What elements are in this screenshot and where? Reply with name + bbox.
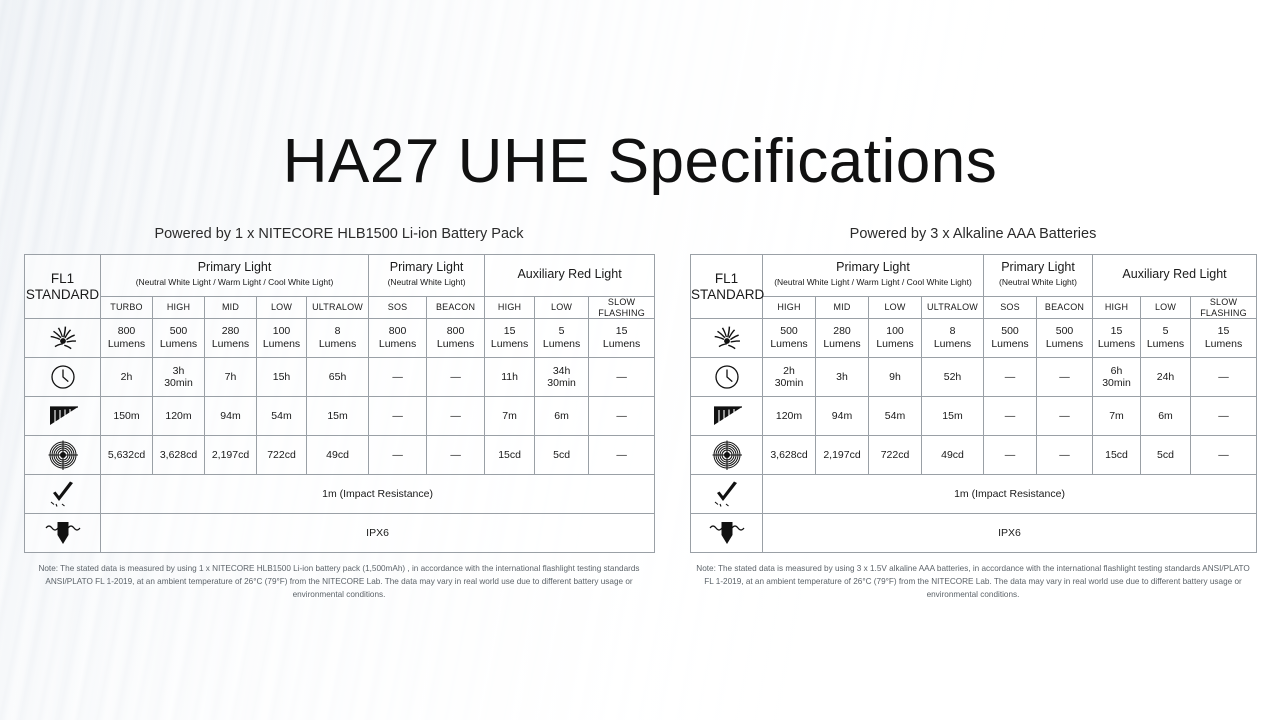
- cell-value: 2h: [101, 358, 153, 397]
- cell-value: 15Lumens: [485, 319, 535, 358]
- group-title: Auxiliary Red Light: [515, 262, 623, 282]
- cell-value: 6h30min: [1093, 358, 1141, 397]
- row-water-resistance: IPX6: [25, 514, 655, 553]
- group-auxiliary-red-light: Auxiliary Red Light: [1093, 255, 1257, 297]
- cell-value: 49cd: [922, 436, 984, 475]
- panel-caption: Powered by 3 x Alkaline AAA Batteries: [690, 226, 1256, 242]
- cell-value: —: [427, 358, 485, 397]
- mode-high: HIGH: [763, 296, 816, 319]
- mode-beacon: BEACON: [1037, 296, 1093, 319]
- specifications-page: HA27 UHE Specifications Powered by 1 x N…: [0, 0, 1280, 720]
- row-runtime: 2h 3h30min 7h 15h 65h — — 11h 34h30min —: [25, 358, 655, 397]
- panel-caption: Powered by 1 x NITECORE HLB1500 Li-ion B…: [24, 226, 654, 242]
- cell-value: 11h: [485, 358, 535, 397]
- cell-value: 15cd: [1093, 436, 1141, 475]
- group-primary-light-multi: Primary Light (Neutral White Light / War…: [101, 255, 369, 297]
- cell-value: 9h: [869, 358, 922, 397]
- spec-panel-alkaline: Powered by 3 x Alkaline AAA Batteries FL…: [690, 226, 1256, 602]
- cell-value: 5Lumens: [535, 319, 589, 358]
- cell-value: 2,197cd: [816, 436, 869, 475]
- mode-mid: MID: [205, 296, 257, 319]
- row-impact-resistance: 1m (Impact Resistance): [691, 475, 1257, 514]
- fl1-line-1: FL1: [51, 271, 74, 286]
- fl1-standard-corner: FL1 STANDARD: [691, 255, 763, 319]
- beam-distance-icon: [691, 397, 763, 436]
- fl1-line-1: FL1: [715, 271, 738, 286]
- cell-value: 800Lumens: [427, 319, 485, 358]
- group-primary-light-multi: Primary Light (Neutral White Light / War…: [763, 255, 984, 297]
- cell-value: 8Lumens: [922, 319, 984, 358]
- cell-value: —: [1037, 397, 1093, 436]
- sunburst-icon: [691, 319, 763, 358]
- cell-value: 100Lumens: [869, 319, 922, 358]
- cell-value: 15Lumens: [1191, 319, 1257, 358]
- cell-value: 15m: [307, 397, 369, 436]
- impact-resistance-icon: [25, 475, 101, 514]
- cell-value: 54m: [257, 397, 307, 436]
- cell-value: 94m: [205, 397, 257, 436]
- spec-panel-li-ion: Powered by 1 x NITECORE HLB1500 Li-ion B…: [24, 226, 654, 602]
- cell-value: 722cd: [869, 436, 922, 475]
- cell-value: 1m (Impact Resistance): [763, 475, 1257, 514]
- cell-value: 500Lumens: [1037, 319, 1093, 358]
- cell-value: 8Lumens: [307, 319, 369, 358]
- cell-value: —: [984, 358, 1037, 397]
- cell-value: 65h: [307, 358, 369, 397]
- cell-value: 800Lumens: [369, 319, 427, 358]
- cell-value: 7m: [1093, 397, 1141, 436]
- fl1-line-2: STANDARD: [691, 287, 764, 302]
- mode-red-slow-flashing: SLOWFLASHING: [1191, 296, 1257, 319]
- mode-sos: SOS: [984, 296, 1037, 319]
- row-beam-distance: 120m 94m 54m 15m — — 7m 6m —: [691, 397, 1257, 436]
- group-subtitle: (Neutral White Light / Warm Light / Cool…: [103, 277, 366, 291]
- cell-value: 15cd: [485, 436, 535, 475]
- row-runtime: 2h30min 3h 9h 52h — — 6h30min 24h —: [691, 358, 1257, 397]
- mode-turbo: TURBO: [101, 296, 153, 319]
- cell-value: 150m: [101, 397, 153, 436]
- cell-value: —: [984, 436, 1037, 475]
- group-primary-light-neutral: Primary Light (Neutral White Light): [984, 255, 1093, 297]
- cell-value: —: [589, 358, 655, 397]
- cell-value: 7h: [205, 358, 257, 397]
- mode-red-low: LOW: [1141, 296, 1191, 319]
- cell-value: 15Lumens: [589, 319, 655, 358]
- cell-value: 120m: [153, 397, 205, 436]
- mode-header-row: TURBO HIGH MID LOW ULTRALOW SOS BEACON H…: [25, 296, 655, 319]
- mode-ultralow: ULTRALOW: [307, 296, 369, 319]
- mode-high: HIGH: [153, 296, 205, 319]
- row-water-resistance: IPX6: [691, 514, 1257, 553]
- cell-value: 5,632cd: [101, 436, 153, 475]
- row-peak-beam-intensity: 5,632cd 3,628cd 2,197cd 722cd 49cd — — 1…: [25, 436, 655, 475]
- cell-value: 7m: [485, 397, 535, 436]
- mode-red-low: LOW: [535, 296, 589, 319]
- water-resistance-icon: [25, 514, 101, 553]
- cell-value: 3,628cd: [153, 436, 205, 475]
- row-beam-distance: 150m 120m 94m 54m 15m — — 7m 6m —: [25, 397, 655, 436]
- cell-value: —: [984, 397, 1037, 436]
- cell-value: 5Lumens: [1141, 319, 1191, 358]
- cell-value: —: [427, 397, 485, 436]
- peak-intensity-target-icon: [691, 436, 763, 475]
- cell-value: IPX6: [763, 514, 1257, 553]
- fl1-line-2: STANDARD: [26, 287, 99, 302]
- cell-value: 722cd: [257, 436, 307, 475]
- cell-value: 5cd: [1141, 436, 1191, 475]
- cell-value: 100Lumens: [257, 319, 307, 358]
- cell-value: 120m: [763, 397, 816, 436]
- cell-value: —: [1037, 436, 1093, 475]
- spec-body: 800Lumens 500Lumens 280Lumens 100Lumens …: [25, 319, 655, 553]
- cell-value: 6m: [535, 397, 589, 436]
- cell-value: —: [1191, 397, 1257, 436]
- cell-value: —: [589, 436, 655, 475]
- group-header-row: FL1 STANDARD Primary Light (Neutral Whit…: [25, 255, 655, 297]
- cell-value: 5cd: [535, 436, 589, 475]
- impact-resistance-icon: [691, 475, 763, 514]
- cell-value: 3h: [816, 358, 869, 397]
- cell-value: 3h30min: [153, 358, 205, 397]
- cell-value: 15h: [257, 358, 307, 397]
- cell-value: 2h30min: [763, 358, 816, 397]
- clock-icon: [25, 358, 101, 397]
- cell-value: 2,197cd: [205, 436, 257, 475]
- mode-beacon: BEACON: [427, 296, 485, 319]
- cell-value: —: [369, 397, 427, 436]
- sunburst-icon: [25, 319, 101, 358]
- mode-red-slow-flashing: SLOWFLASHING: [589, 296, 655, 319]
- spec-table-li-ion: FL1 STANDARD Primary Light (Neutral Whit…: [24, 254, 655, 553]
- mode-ultralow: ULTRALOW: [922, 296, 984, 319]
- cell-value: 15m: [922, 397, 984, 436]
- group-primary-light-neutral: Primary Light (Neutral White Light): [369, 255, 485, 297]
- cell-value: —: [1191, 358, 1257, 397]
- cell-value: —: [1037, 358, 1093, 397]
- cell-value: 49cd: [307, 436, 369, 475]
- spec-table-alkaline: FL1 STANDARD Primary Light (Neutral Whit…: [690, 254, 1257, 553]
- mode-header-row: HIGH MID LOW ULTRALOW SOS BEACON HIGH LO…: [691, 296, 1257, 319]
- mode-sos: SOS: [369, 296, 427, 319]
- cell-value: —: [589, 397, 655, 436]
- cell-value: —: [427, 436, 485, 475]
- cell-value: 52h: [922, 358, 984, 397]
- cell-value: —: [1191, 436, 1257, 475]
- cell-value: IPX6: [101, 514, 655, 553]
- group-auxiliary-red-light: Auxiliary Red Light: [485, 255, 655, 297]
- fl1-standard-corner: FL1 STANDARD: [25, 255, 101, 319]
- cell-value: 800Lumens: [101, 319, 153, 358]
- row-light-output: 500Lumens 280Lumens 100Lumens 8Lumens 50…: [691, 319, 1257, 358]
- page-title: HA27 UHE Specifications: [0, 126, 1280, 197]
- table-note: Note: The stated data is measured by usi…: [24, 563, 654, 601]
- water-resistance-icon: [691, 514, 763, 553]
- beam-distance-icon: [25, 397, 101, 436]
- cell-value: 3,628cd: [763, 436, 816, 475]
- cell-value: 500Lumens: [153, 319, 205, 358]
- group-title: Primary Light: [388, 255, 466, 275]
- cell-value: 34h30min: [535, 358, 589, 397]
- row-light-output: 800Lumens 500Lumens 280Lumens 100Lumens …: [25, 319, 655, 358]
- cell-value: 500Lumens: [763, 319, 816, 358]
- cell-value: 1m (Impact Resistance): [101, 475, 655, 514]
- cell-value: 24h: [1141, 358, 1191, 397]
- group-subtitle: (Neutral White Light): [986, 277, 1090, 291]
- group-title: Primary Light: [196, 255, 274, 275]
- group-title: Primary Light: [834, 255, 912, 275]
- row-impact-resistance: 1m (Impact Resistance): [25, 475, 655, 514]
- mode-low: LOW: [869, 296, 922, 319]
- peak-intensity-target-icon: [25, 436, 101, 475]
- spec-body: 500Lumens 280Lumens 100Lumens 8Lumens 50…: [691, 319, 1257, 553]
- group-title: Primary Light: [999, 255, 1077, 275]
- group-subtitle: (Neutral White Light / Warm Light / Cool…: [765, 277, 981, 291]
- cell-value: —: [369, 358, 427, 397]
- cell-value: 94m: [816, 397, 869, 436]
- cell-value: 500Lumens: [984, 319, 1037, 358]
- cell-value: 15Lumens: [1093, 319, 1141, 358]
- cell-value: —: [369, 436, 427, 475]
- mode-red-high: HIGH: [485, 296, 535, 319]
- row-peak-beam-intensity: 3,628cd 2,197cd 722cd 49cd — — 15cd 5cd …: [691, 436, 1257, 475]
- table-note: Note: The stated data is measured by usi…: [690, 563, 1256, 601]
- group-header-row: FL1 STANDARD Primary Light (Neutral Whit…: [691, 255, 1257, 297]
- mode-low: LOW: [257, 296, 307, 319]
- clock-icon: [691, 358, 763, 397]
- group-subtitle: (Neutral White Light): [371, 277, 482, 291]
- group-title: Auxiliary Red Light: [1120, 262, 1228, 282]
- mode-red-high: HIGH: [1093, 296, 1141, 319]
- cell-value: 280Lumens: [205, 319, 257, 358]
- cell-value: 54m: [869, 397, 922, 436]
- cell-value: 6m: [1141, 397, 1191, 436]
- mode-mid: MID: [816, 296, 869, 319]
- cell-value: 280Lumens: [816, 319, 869, 358]
